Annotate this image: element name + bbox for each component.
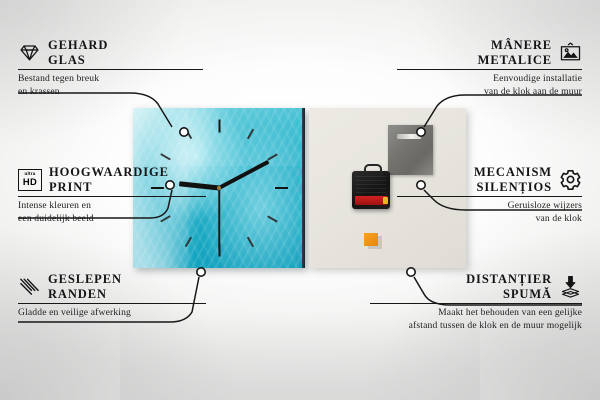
callout-description-hoogwaardige-print: Intense kleuren en een duidelijk beeld [18,200,206,224]
callout-geslepen-randen: GESLEPEN RANDEN Gladde en veilige afwerk… [18,272,206,320]
callout-title-text: MÂNERE METALICE [478,38,552,67]
battery-part [355,196,387,205]
callout-gehard-glas: GEHARD GLAS Bestand tegen breuk en krass… [18,38,203,98]
callout-description-distantier-spuma: Maakt het behouden van een gelijke afsta… [370,307,582,331]
callout-distantier-spuma: DISTANȚIER SPUMĂ Maakt het behouden van … [370,272,582,332]
mechanism-hanging-loop [364,164,382,175]
callout-title-text: MECANISM SILENȚIOS [474,165,552,194]
callout-description-mecanism-silentios: Geruisloze wijzers van de klok [397,200,582,224]
callout-rule [18,303,206,304]
foam-spacer-part [364,233,378,246]
callout-description-geslepen-randen: Gladde en veilige afwerking [18,307,206,319]
callout-rule [397,196,582,197]
second-hand [218,188,220,250]
callout-mecanism-silentios: MECANISM SILENȚIOS Geruisloze wijzers va… [397,165,582,225]
quartz-mechanism-part [352,171,390,209]
callout-manere-metalice: MÂNERE METALICE Eenvoudige installatie v… [397,38,582,98]
diamond-icon [18,41,41,64]
callout-title-text: DISTANȚIER SPUMĂ [466,272,552,301]
hour-marker [218,120,220,133]
mechanism-housing-detail [356,176,386,194]
callout-rule [18,69,203,70]
callout-rule [370,303,582,304]
callout-title-manere-metalice: MÂNERE METALICE [397,38,582,67]
callout-title-gehard-glas: GEHARD GLAS [18,38,203,67]
callout-title-text: GEHARD GLAS [48,38,108,67]
ultra-hd-badge-hd: HD [23,177,37,186]
callout-description-gehard-glas: Bestand tegen breuk en krassen [18,73,203,97]
callout-rule [397,69,582,70]
callout-rule [18,196,206,197]
beveled-edges-icon [18,275,41,298]
callout-title-distantier-spuma: DISTANȚIER SPUMĂ [370,272,582,301]
foam-spacer-icon [559,275,582,298]
callout-hoogwaardige-print: ultra HD HOOGWAARDIGE PRINT Intense kleu… [18,165,206,225]
picture-hanger-icon [559,41,582,64]
clock-center-hub [217,186,221,190]
callout-title-text: HOOGWAARDIGE PRINT [49,165,169,194]
callout-title-hoogwaardige-print: ultra HD HOOGWAARDIGE PRINT [18,165,206,194]
hour-marker [275,187,288,189]
infographic-stage: GEHARD GLAS Bestand tegen breuk en krass… [0,0,600,400]
callout-title-mecanism-silentios: MECANISM SILENȚIOS [397,165,582,194]
glass-side-edge [302,108,305,268]
callout-description-manere-metalice: Eenvoudige installatie van de klok aan d… [397,73,582,97]
ultra-hd-badge-icon: ultra HD [18,169,42,191]
callout-title-geslepen-randen: GESLEPEN RANDEN [18,272,206,301]
callout-title-text: GESLEPEN RANDEN [48,272,122,301]
gear-icon [559,168,582,191]
